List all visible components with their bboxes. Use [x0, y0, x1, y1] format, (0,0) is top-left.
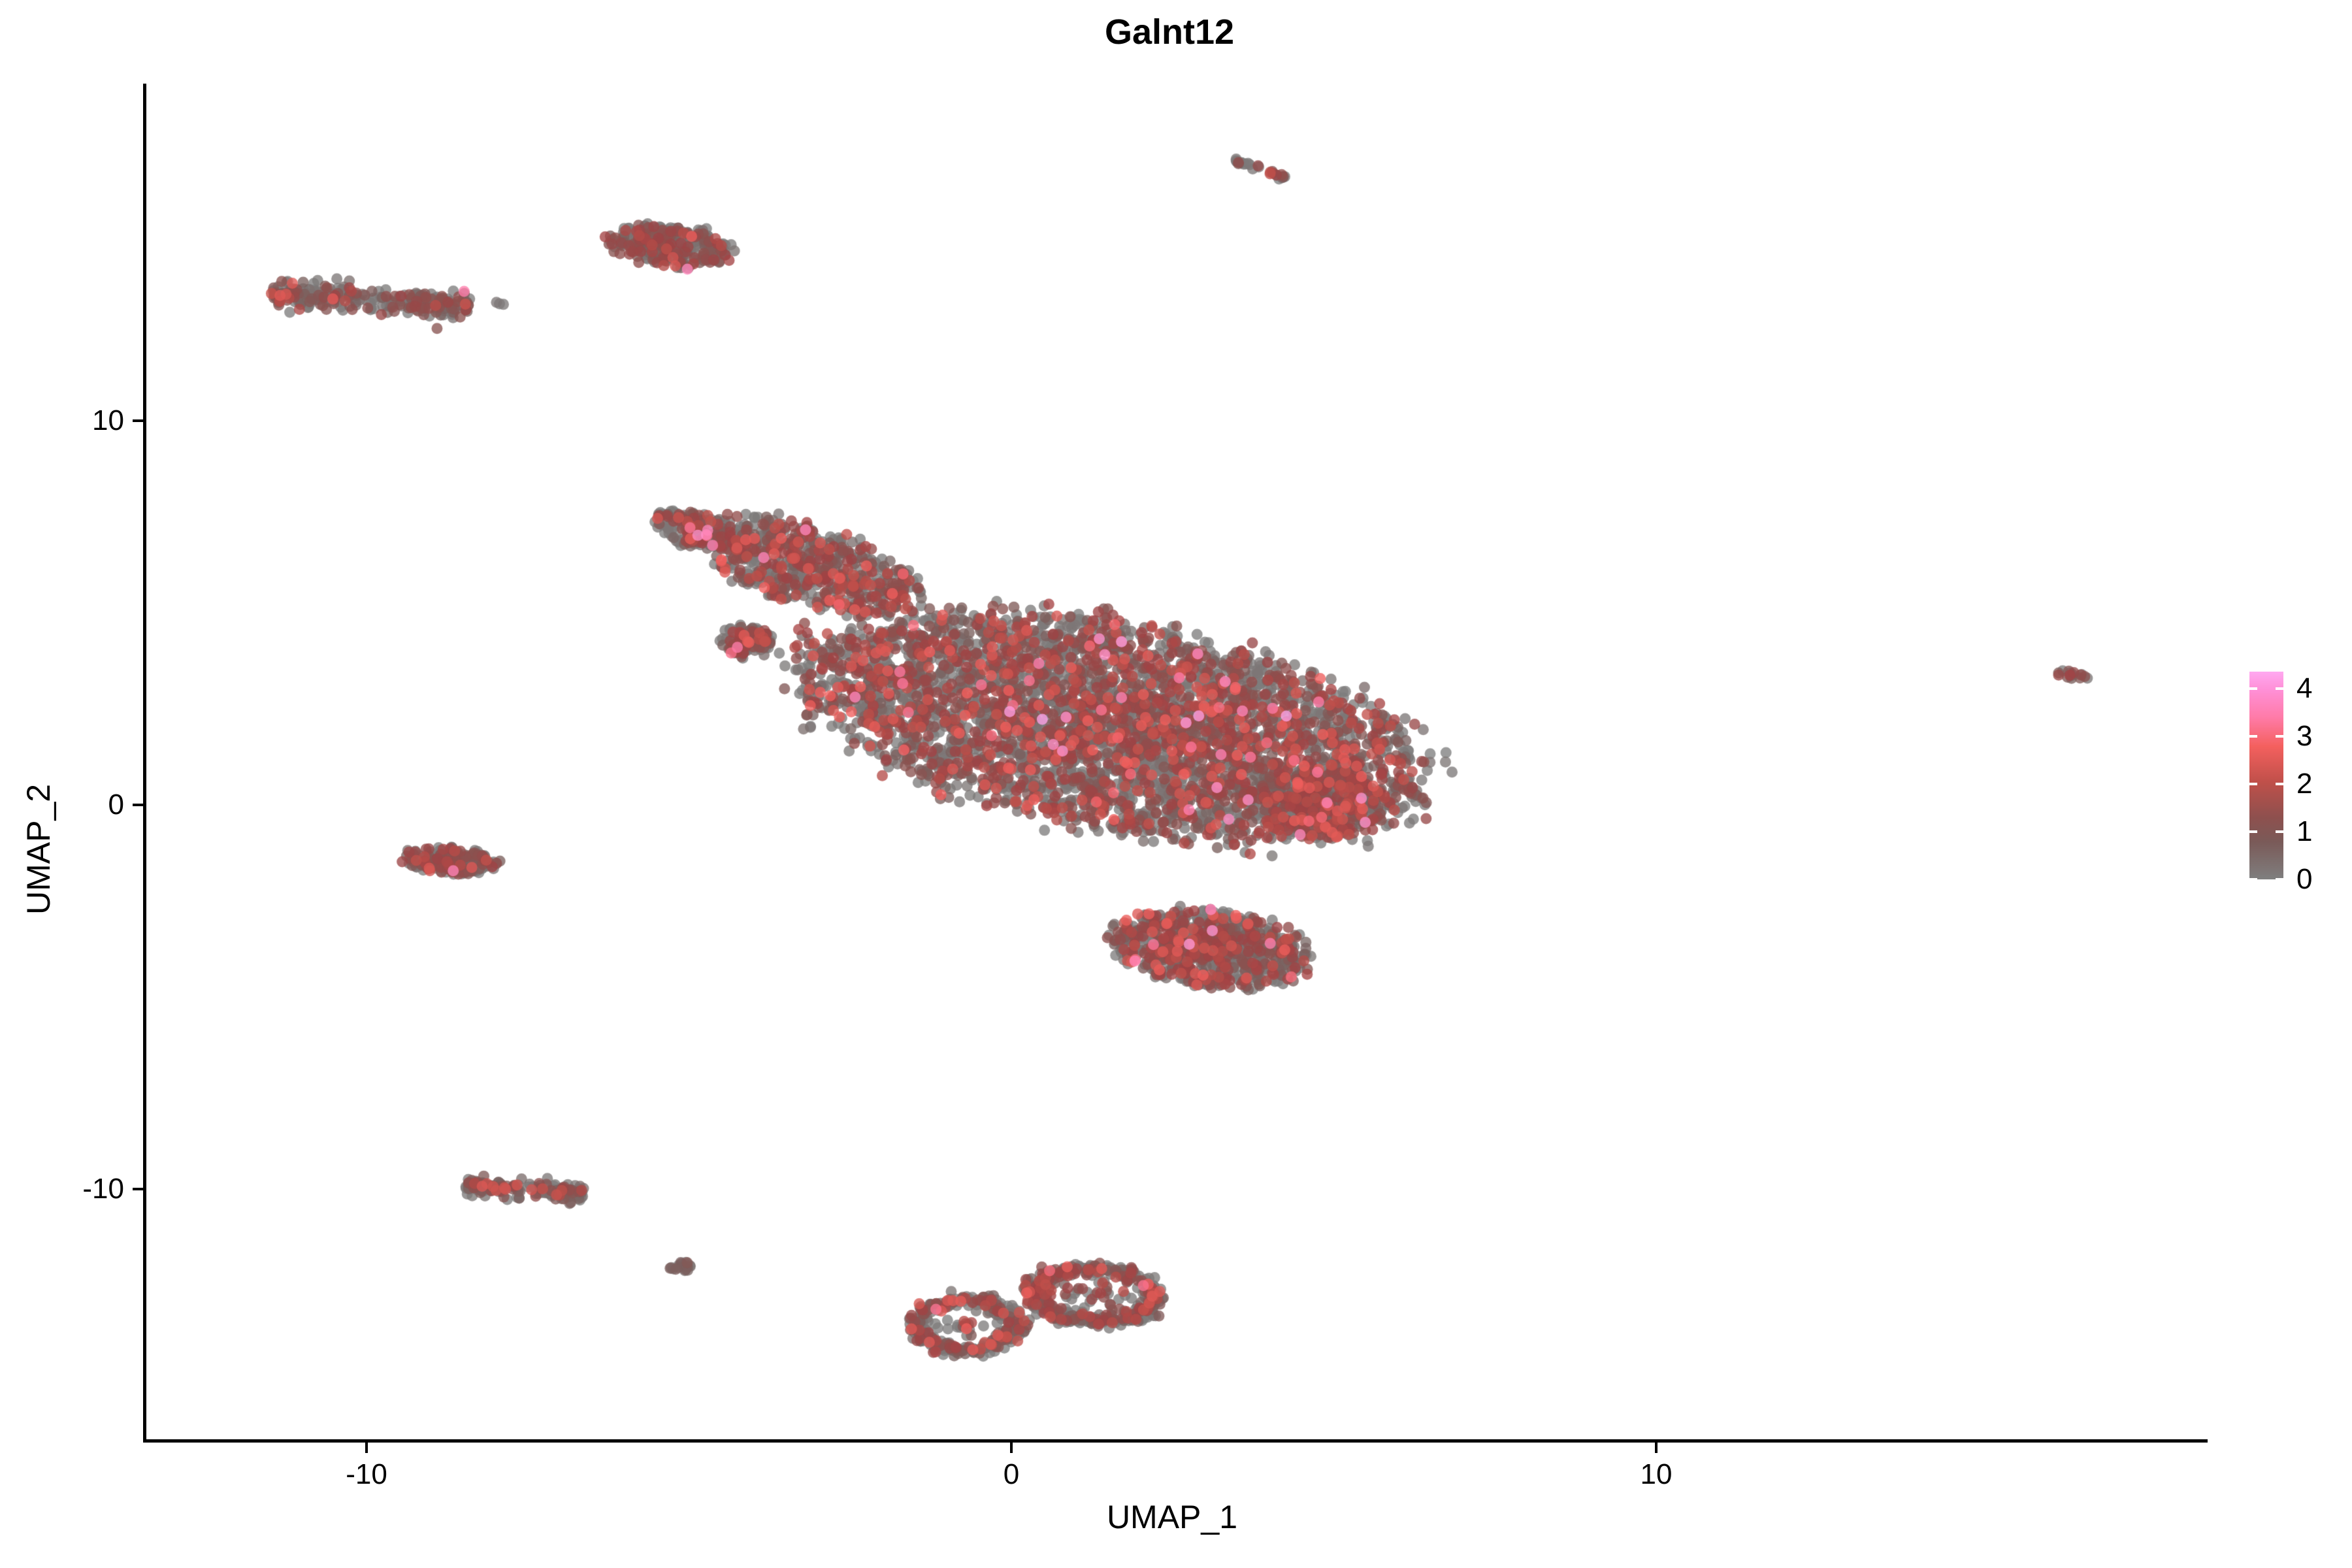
colorbar-tick-label: 4 [2296, 672, 2312, 705]
x-tick-label: 10 [1641, 1458, 1673, 1491]
y-tick-mark [133, 804, 143, 806]
scatter-points-canvas [0, 0, 2352, 1568]
y-tick-label: 0 [0, 789, 124, 821]
colorbar-tick-mark [2249, 687, 2257, 690]
colorbar-tick-mark [2249, 830, 2257, 833]
colorbar-tick-label: 0 [2296, 863, 2312, 896]
colorbar-tick-label: 1 [2296, 815, 2312, 848]
colorbar-tick-mark [2276, 735, 2283, 738]
x-axis-title: UMAP_1 [0, 1498, 2348, 1536]
colorbar-tick-mark [2276, 830, 2283, 833]
x-tick-label: -10 [346, 1458, 387, 1491]
y-axis-line [143, 84, 146, 1443]
y-axis-title: UMAP_2 [20, 784, 57, 915]
plot-panel [0, 0, 2352, 1568]
x-tick-mark [1010, 1443, 1013, 1453]
colorbar-tick-label: 2 [2296, 768, 2312, 800]
y-tick-mark [133, 1188, 143, 1190]
x-tick-mark [365, 1443, 368, 1453]
colorbar-tick-mark [2249, 878, 2257, 881]
colorbar-tick-mark [2276, 687, 2283, 690]
color-legend: 43210 [2249, 664, 2347, 892]
colorbar-tick-mark [2249, 735, 2257, 738]
colorbar-tick-mark [2276, 783, 2283, 785]
colorbar-tick-mark [2276, 878, 2283, 881]
colorbar-gradient [2249, 672, 2283, 879]
umap-feature-plot: Galnt12 100-10 -10010 UMAP_1 UMAP_2 4321… [0, 0, 2352, 1568]
colorbar-tick-mark [2249, 783, 2257, 785]
x-tick-label: 0 [1004, 1458, 1019, 1491]
y-tick-label: 10 [0, 404, 124, 437]
y-tick-mark [133, 419, 143, 422]
colorbar-tick-label: 3 [2296, 720, 2312, 753]
x-axis-line [143, 1439, 2208, 1443]
x-tick-mark [1655, 1443, 1658, 1453]
y-tick-label: -10 [0, 1173, 124, 1205]
